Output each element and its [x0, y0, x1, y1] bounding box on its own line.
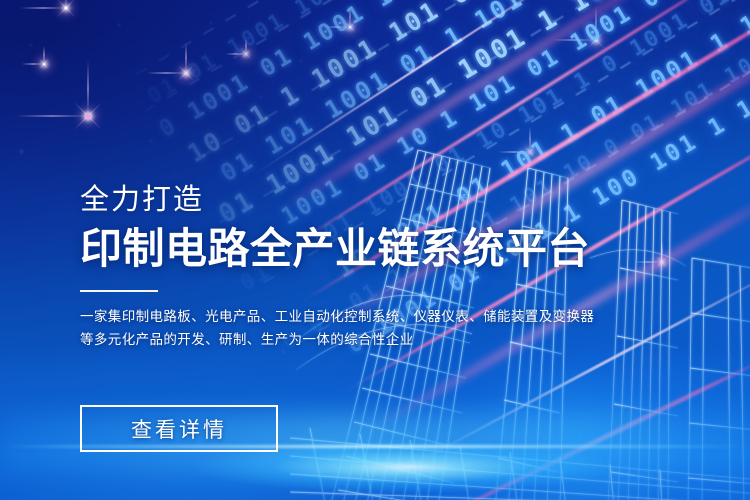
hero-description-line-2: 等多元化产品的开发、研制、生产为一体的综合性企业 — [80, 328, 700, 351]
hero-banner: 10 01 01 1001 101 101 10 0 01 101 1001 0… — [0, 0, 750, 500]
hero-description-line-1: 一家集印制电路板、光电产品、工业自动化控制系统、仪器仪表、储能装置及变换器 — [80, 305, 700, 328]
view-details-button[interactable]: 查看详情 — [80, 405, 278, 452]
eyebrow-text: 全力打造 — [80, 186, 700, 215]
dust-mote — [30, 44, 32, 46]
dust-mote — [150, 140, 152, 142]
title-divider — [80, 290, 158, 292]
dust-mote — [20, 150, 23, 153]
page-title: 印制电路全产业链系统平台 — [80, 227, 700, 272]
hero-description: 一家集印制电路板、光电产品、工业自动化控制系统、仪器仪表、储能装置及变换器 等多… — [80, 305, 700, 351]
hero-text-block: 全力打造 印制电路全产业链系统平台 一家集印制电路板、光电产品、工业自动化控制系… — [80, 186, 700, 351]
